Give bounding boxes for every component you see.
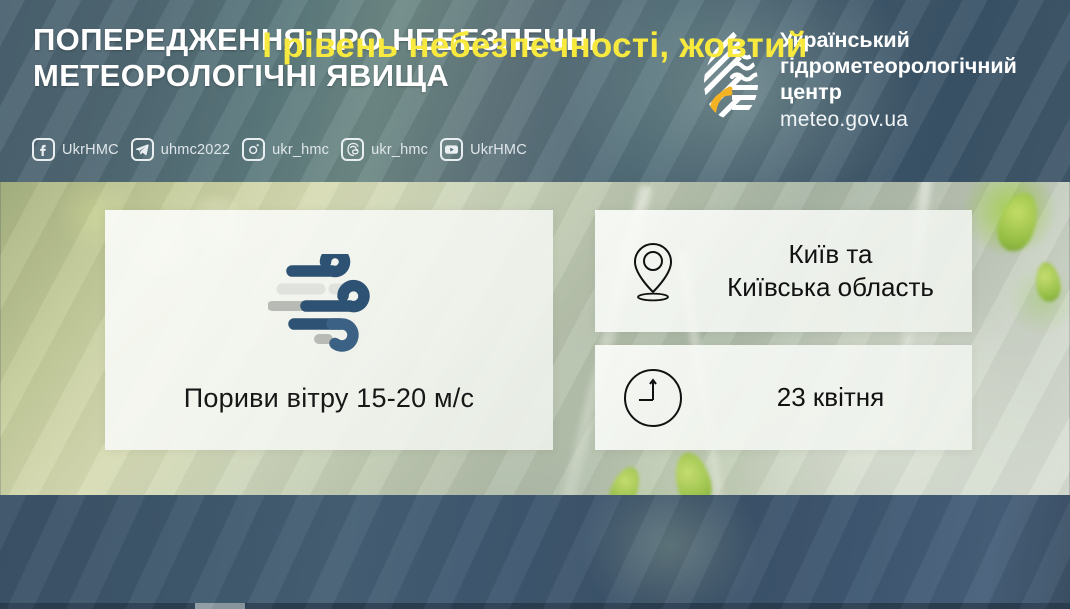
- location-card: Київ та Київська область: [595, 210, 972, 332]
- map-pin-icon: [595, 240, 711, 302]
- date-card: 23 квітня: [595, 345, 972, 450]
- wind-label: Пориви вітру 15-20 м/с: [105, 383, 553, 414]
- instagram-icon: [242, 138, 265, 161]
- footer-bottom-edge: [0, 603, 1070, 609]
- warning-level-text: І рівень небезпечності, жовтий: [0, 26, 1070, 66]
- social-handle-youtube: UkrHMC: [470, 142, 527, 158]
- clock-icon: [595, 367, 711, 429]
- facebook-icon: [32, 138, 55, 161]
- social-links: UkrHMC uhmc2022 ukr_hmc ukr_h: [32, 138, 527, 161]
- youtube-icon: [440, 138, 463, 161]
- location-line1: Київ та: [711, 238, 950, 271]
- logo-name-line3: центр: [780, 79, 1017, 105]
- location-line2: Київська область: [711, 271, 950, 304]
- wind-card: Пориви вітру 15-20 м/с: [105, 210, 553, 450]
- social-handle-threads: ukr_hmc: [371, 142, 428, 158]
- weather-warning-poster: ПОПЕРЕДЖЕННЯ ПРО НЕБЕЗПЕЧНІ МЕТЕОРОЛОГІЧ…: [0, 0, 1070, 609]
- telegram-icon: [131, 138, 154, 161]
- social-link-facebook[interactable]: UkrHMC: [32, 138, 119, 161]
- threads-icon: [341, 138, 364, 161]
- wind-gust-icon: [268, 254, 390, 367]
- date-text: 23 квітня: [711, 381, 972, 414]
- social-link-youtube[interactable]: UkrHMC: [440, 138, 527, 161]
- social-link-threads[interactable]: ukr_hmc: [341, 138, 428, 161]
- location-text: Київ та Київська область: [711, 238, 972, 304]
- social-handle-telegram: uhmc2022: [161, 142, 230, 158]
- logo-website-url: meteo.gov.ua: [780, 108, 1017, 132]
- social-link-instagram[interactable]: ukr_hmc: [242, 138, 329, 161]
- social-handle-facebook: UkrHMC: [62, 142, 119, 158]
- footer-sheen: [580, 495, 760, 609]
- footer-bottom-chip: [195, 603, 245, 609]
- warning-level-banner: [0, 495, 1070, 609]
- social-link-telegram[interactable]: uhmc2022: [131, 138, 230, 161]
- social-handle-instagram: ukr_hmc: [272, 142, 329, 158]
